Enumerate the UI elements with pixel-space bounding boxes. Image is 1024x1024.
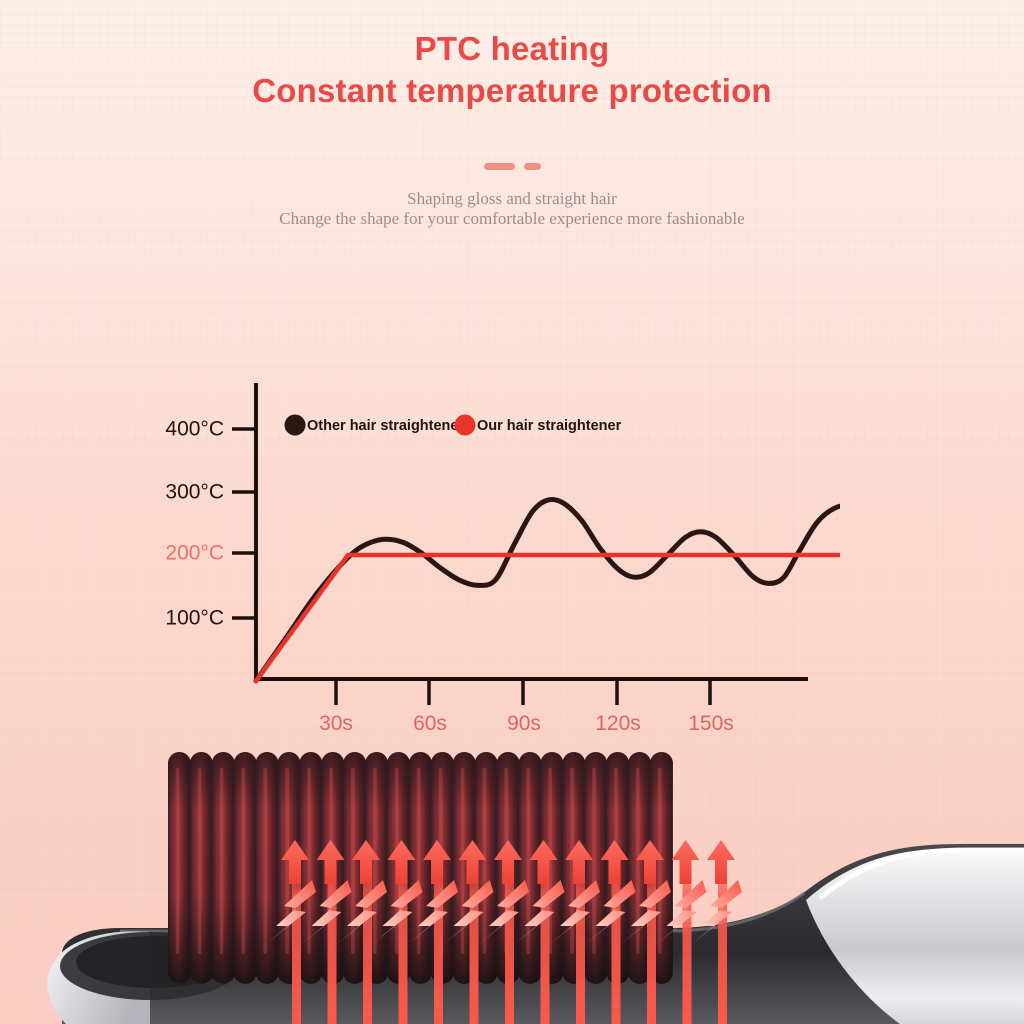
y-axis-ticks bbox=[232, 429, 256, 618]
divider-dash-short bbox=[524, 163, 541, 170]
legend-marker-other bbox=[285, 415, 306, 436]
comb-tooth bbox=[190, 752, 213, 984]
comb-tooth bbox=[299, 752, 322, 984]
comb-tooth bbox=[584, 752, 607, 984]
chart-legend: Other hair straightener Our hair straigh… bbox=[285, 415, 622, 436]
product-photo-hair-straightener-brush bbox=[0, 748, 1024, 1024]
x-axis-label-90s: 90s bbox=[507, 712, 541, 735]
page-title-line-1: PTC heating bbox=[0, 30, 1024, 68]
comb-tooth bbox=[168, 752, 191, 984]
x-axis-label-30s: 30s bbox=[319, 712, 353, 735]
subtitle-line-1: Shaping gloss and straight hair bbox=[0, 189, 1024, 209]
subtitle-line-2: Change the shape for your comfortable ex… bbox=[0, 209, 1024, 229]
product-marketing-banner: PTC heating Constant temperature protect… bbox=[0, 0, 1024, 1024]
heat-arrow-up bbox=[672, 840, 700, 884]
x-axis-label-150s: 150s bbox=[688, 712, 734, 735]
legend-marker-ours bbox=[455, 415, 476, 436]
legend-label-other: Other hair straightener bbox=[307, 418, 464, 434]
comb-tooth bbox=[234, 752, 257, 984]
page-title-line-2: Constant temperature protection bbox=[0, 72, 1024, 110]
temperature-vs-time-chart: 400°C 300°C 200°C 100°C 30s 60s 90s 120s… bbox=[150, 375, 840, 750]
divider-dash-long bbox=[484, 163, 515, 170]
comb-tooth bbox=[256, 752, 279, 984]
comb-teeth-group bbox=[168, 752, 673, 984]
x-axis-label-120s: 120s bbox=[595, 712, 641, 735]
comb-tooth bbox=[409, 752, 432, 984]
y-axis-label-300: 300°C bbox=[165, 481, 224, 504]
x-axis-ticks bbox=[336, 679, 710, 705]
y-axis-label-400: 400°C bbox=[165, 418, 224, 441]
y-axis-label-200: 200°C bbox=[165, 542, 224, 565]
title-divider bbox=[0, 163, 1024, 170]
heat-arrow-up bbox=[707, 840, 735, 884]
y-axis-label-100: 100°C bbox=[165, 607, 224, 630]
legend-label-ours: Our hair straightener bbox=[477, 418, 622, 434]
series-line-other-hair-straightener bbox=[256, 499, 840, 681]
x-axis-label-60s: 60s bbox=[413, 712, 447, 735]
comb-tooth bbox=[212, 752, 235, 984]
